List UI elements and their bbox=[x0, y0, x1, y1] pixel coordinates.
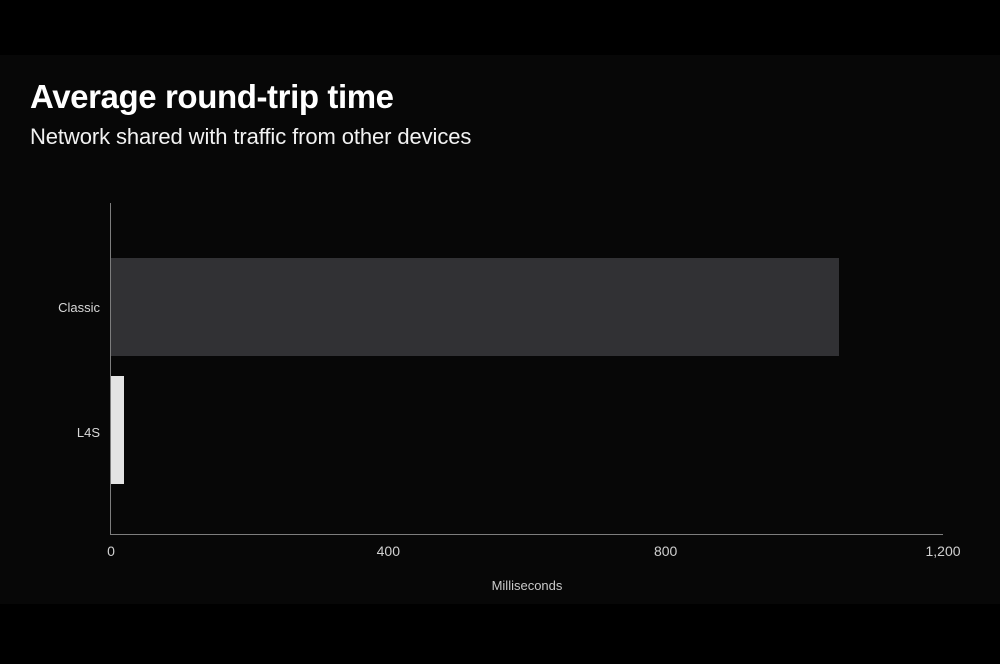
x-tick-label-400: 400 bbox=[377, 543, 400, 559]
page-subtitle: Network shared with traffic from other d… bbox=[30, 124, 471, 150]
bar-l4s bbox=[111, 376, 124, 484]
x-axis-line bbox=[110, 534, 943, 535]
slide-content: Average round-trip time Network shared w… bbox=[0, 55, 1000, 604]
x-tick-label-0: 0 bbox=[107, 543, 115, 559]
slide-letterbox: Average round-trip time Network shared w… bbox=[0, 0, 1000, 664]
category-label-l4s: L4S bbox=[77, 425, 100, 440]
category-label-classic: Classic bbox=[58, 300, 100, 315]
y-axis-line bbox=[110, 203, 111, 534]
bar-classic bbox=[111, 258, 839, 356]
x-axis-title: Milliseconds bbox=[492, 578, 563, 593]
bar-chart-plot-area: Classic L4S 0 400 800 1,200 Milliseconds bbox=[111, 203, 943, 534]
x-tick-label-1200: 1,200 bbox=[925, 543, 960, 559]
page-title: Average round-trip time bbox=[30, 78, 394, 116]
x-tick-label-800: 800 bbox=[654, 543, 677, 559]
